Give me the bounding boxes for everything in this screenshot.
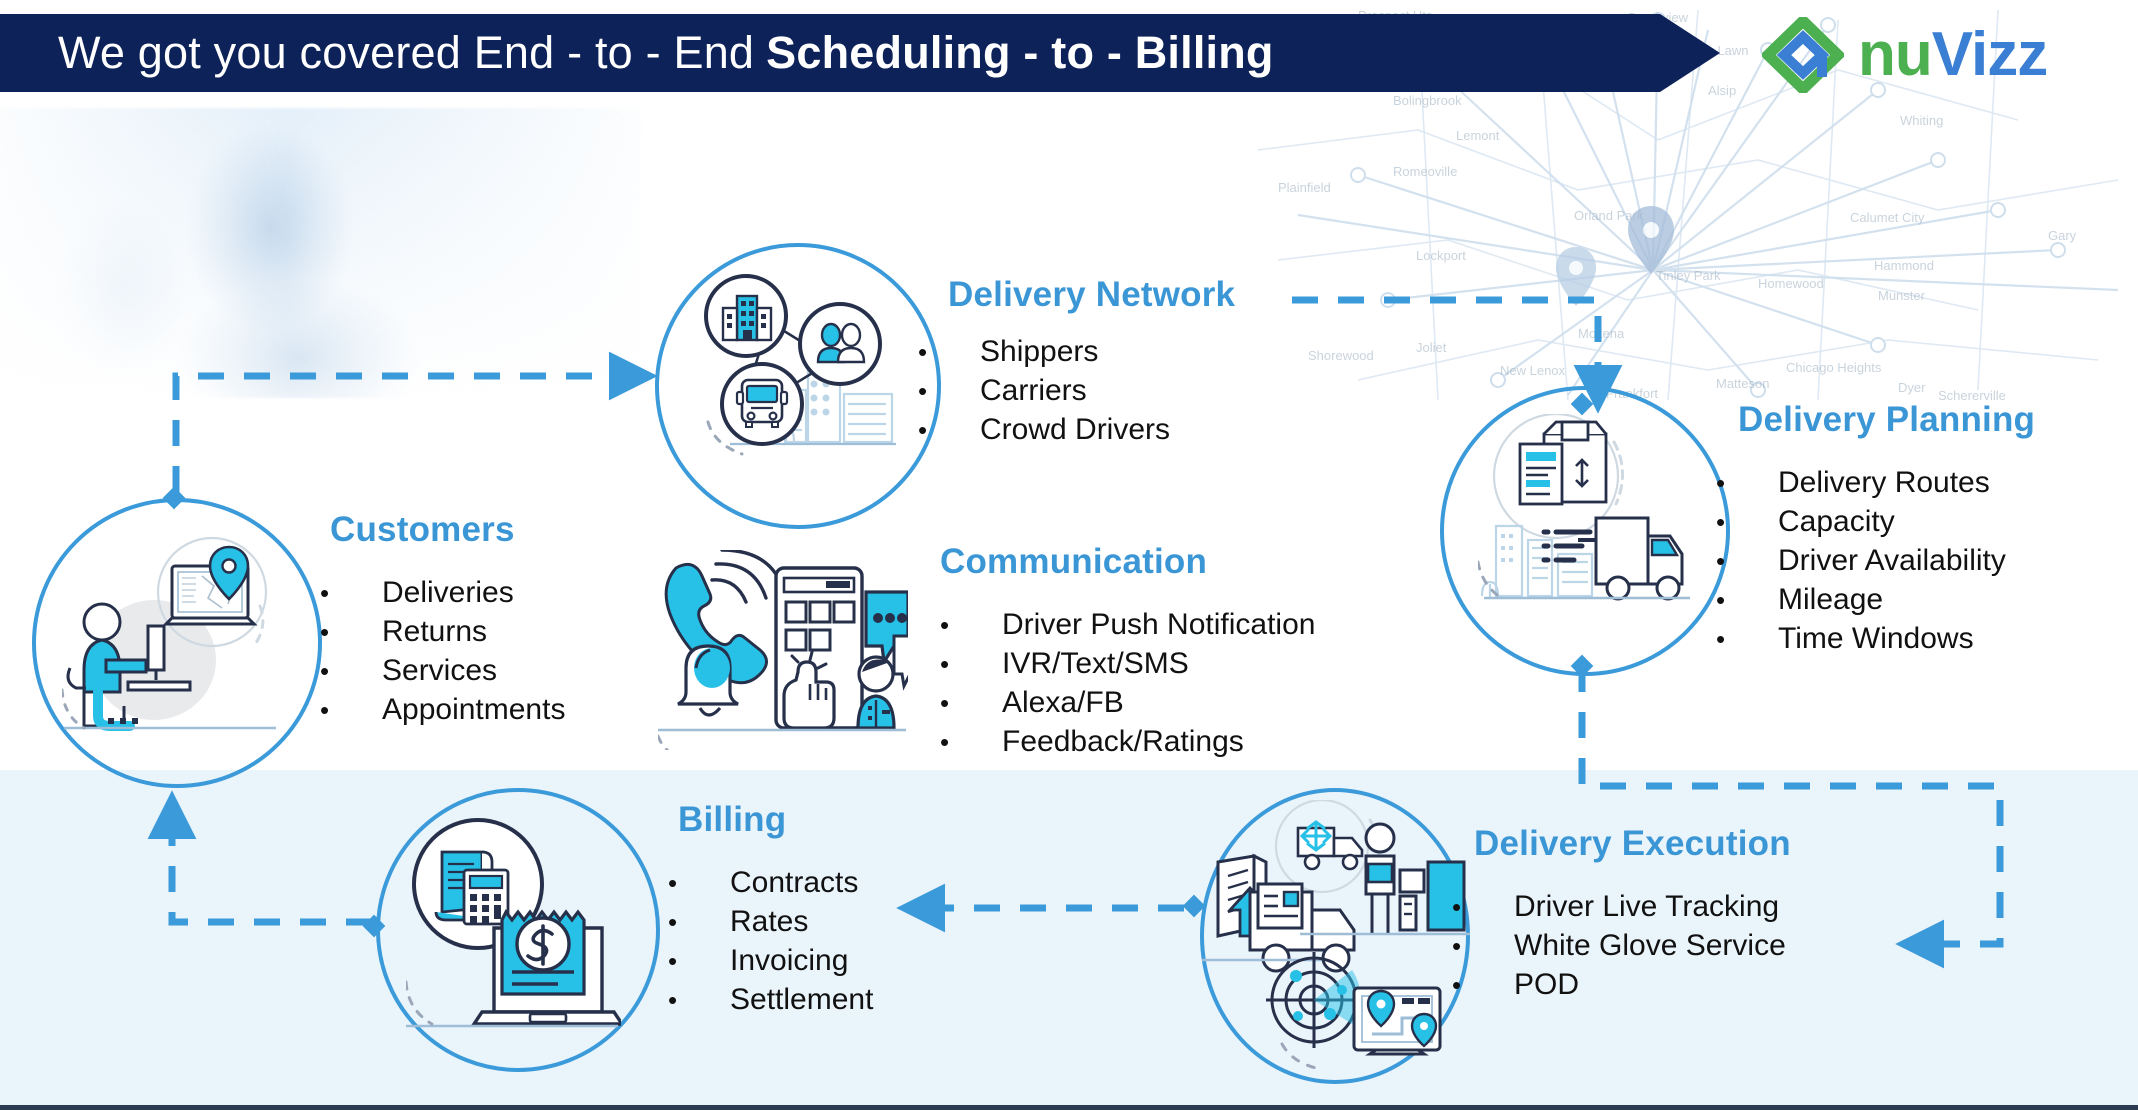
header-banner-arrow-tip: [1660, 14, 1720, 92]
bullet-text: Settlement: [730, 985, 873, 1015]
bullet-text: Rates: [730, 907, 808, 937]
bullet-marker: •: [320, 658, 382, 684]
list-item: •Shippers: [918, 337, 1170, 376]
lower-band-background: [0, 770, 2138, 1108]
bullet-text: Returns: [382, 617, 487, 647]
list-item: •Driver Live Tracking: [1452, 892, 1786, 931]
nuvizz-diamond-logo-mark: [1762, 17, 1844, 93]
svg-text:Dyer: Dyer: [1898, 380, 1926, 395]
svg-text:Mokena: Mokena: [1578, 326, 1625, 341]
svg-text:New Lenox: New Lenox: [1500, 363, 1566, 378]
bullet-marker: •: [1716, 626, 1778, 652]
bullet-text: Contracts: [730, 868, 858, 898]
list-item: •Deliveries: [320, 578, 565, 617]
bullet-text: Time Windows: [1778, 624, 1974, 654]
bullet-marker: •: [320, 619, 382, 645]
nuvizz-logo[interactable]: nuVizz: [1762, 14, 2122, 96]
svg-text:Joliet: Joliet: [1416, 340, 1447, 355]
list-item: •Appointments: [320, 695, 565, 734]
delivery-network-bullets: •Shippers •Carriers •Crowd Drivers: [918, 337, 1170, 454]
bullet-marker: •: [1716, 470, 1778, 496]
bullet-marker: •: [918, 417, 980, 443]
svg-text:Hammond: Hammond: [1874, 258, 1934, 273]
infographic-canvas: Prospect Hts Bolingbrook Lemont Romeovil…: [0, 0, 2138, 1110]
bullet-text: Appointments: [382, 695, 565, 725]
svg-text:Bolingbrook: Bolingbrook: [1393, 93, 1462, 108]
bullet-marker: •: [1716, 548, 1778, 574]
list-item: •POD: [1452, 970, 1786, 1009]
truck-pod-tracking-courier-icon: [1202, 800, 1472, 1070]
list-item: •Driver Push Notification: [940, 610, 1315, 649]
bullet-text: Crowd Drivers: [980, 415, 1170, 445]
bullet-marker: •: [668, 909, 730, 935]
header-banner-text: We got you covered End - to - End Schedu…: [58, 14, 1274, 92]
list-item: •Carriers: [918, 376, 1170, 415]
bullet-marker: •: [1452, 894, 1514, 920]
svg-text:Tinley Park: Tinley Park: [1656, 268, 1721, 283]
bullet-marker: •: [940, 729, 1002, 755]
list-item: •Invoicing: [668, 946, 873, 985]
bullet-text: Alexa/FB: [1002, 688, 1124, 718]
customer-at-desk-laptop-map-icon: [62, 530, 282, 750]
bullet-text: Delivery Routes: [1778, 468, 1990, 498]
bullet-text: Mileage: [1778, 585, 1883, 615]
svg-text:Homewood: Homewood: [1758, 276, 1824, 291]
bullet-text: Invoicing: [730, 946, 848, 976]
list-item: •Feedback/Ratings: [940, 727, 1315, 766]
customers-title: Customers: [330, 510, 515, 550]
list-item: •Crowd Drivers: [918, 415, 1170, 454]
logo-text-nu: nu: [1858, 20, 1932, 89]
bullet-text: Services: [382, 656, 497, 686]
banner-text-normal: We got you covered End - to - End: [58, 27, 754, 79]
list-item: •White Glove Service: [1452, 931, 1786, 970]
communication-title: Communication: [940, 542, 1207, 582]
bullet-marker: •: [918, 339, 980, 365]
bullet-text: POD: [1514, 970, 1579, 1000]
delivery-execution-title: Delivery Execution: [1474, 824, 1791, 864]
bullet-text: Feedback/Ratings: [1002, 727, 1244, 757]
bullet-text: White Glove Service: [1514, 931, 1786, 961]
bullet-marker: •: [940, 651, 1002, 677]
invoice-calculator-laptop-dollar-icon: [406, 818, 621, 1033]
svg-text:Schererville: Schererville: [1938, 388, 2006, 400]
list-item: •Driver Availability: [1716, 546, 2006, 585]
bullet-marker: •: [320, 580, 382, 606]
bullet-marker: •: [1716, 509, 1778, 535]
network-buildings-people-bus-icon: [690, 272, 900, 472]
billing-title: Billing: [678, 800, 786, 840]
communication-bullets: •Driver Push Notification •IVR/Text/SMS …: [940, 610, 1315, 766]
bullet-marker: •: [918, 378, 980, 404]
delivery-planning-bullets: •Delivery Routes •Capacity •Driver Avail…: [1716, 468, 2006, 663]
bullet-marker: •: [668, 870, 730, 896]
list-item: •Settlement: [668, 985, 873, 1024]
logo-text-vizz: Vizz: [1932, 20, 2047, 89]
bullet-marker: •: [1716, 587, 1778, 613]
bullet-text: Shippers: [980, 337, 1098, 367]
svg-text:Romeoville: Romeoville: [1393, 164, 1457, 179]
delivery-network-title: Delivery Network: [948, 275, 1235, 315]
svg-text:Shorewood: Shorewood: [1308, 348, 1374, 363]
delivery-person-holding-boxes-photo: [0, 108, 640, 398]
list-item: •Capacity: [1716, 507, 2006, 546]
bullet-text: Driver Push Notification: [1002, 610, 1315, 640]
svg-text:Gary: Gary: [2048, 228, 2077, 243]
list-item: •IVR/Text/SMS: [940, 649, 1315, 688]
bullet-text: Capacity: [1778, 507, 1895, 537]
delivery-execution-bullets: •Driver Live Tracking •White Glove Servi…: [1452, 892, 1786, 1009]
list-item: •Time Windows: [1716, 624, 2006, 663]
bullet-text: Driver Live Tracking: [1514, 892, 1779, 922]
bullet-marker: •: [1452, 933, 1514, 959]
list-item: •Mileage: [1716, 585, 2006, 624]
svg-text:Lemont: Lemont: [1456, 128, 1500, 143]
bullet-text: Carriers: [980, 376, 1087, 406]
bullet-marker: •: [1452, 972, 1514, 998]
svg-text:Matteson: Matteson: [1716, 376, 1769, 391]
svg-text:Plainfield: Plainfield: [1278, 180, 1331, 195]
bullet-text: Deliveries: [382, 578, 514, 608]
billing-bullets: •Contracts •Rates •Invoicing •Settlement: [668, 868, 873, 1024]
bottom-rule: [0, 1105, 2138, 1110]
nuvizz-logo-wordmark: nuVizz: [1858, 24, 2047, 86]
delivery-planning-title: Delivery Planning: [1738, 400, 2035, 440]
svg-text:Lockport: Lockport: [1416, 248, 1466, 263]
phone-mobile-chat-bell-agent-icon: [658, 550, 908, 750]
list-item: •Delivery Routes: [1716, 468, 2006, 507]
svg-text:Whiting: Whiting: [1900, 113, 1943, 128]
list-item: •Rates: [668, 907, 873, 946]
bullet-marker: •: [940, 690, 1002, 716]
svg-text:Munster: Munster: [1878, 288, 1926, 303]
banner-text-bold: Scheduling - to - Billing: [766, 27, 1273, 79]
bullet-marker: •: [320, 697, 382, 723]
svg-text:Chicago Heights: Chicago Heights: [1786, 360, 1882, 375]
planning-clipboard-truck-icon: [1478, 414, 1693, 629]
bullet-marker: •: [668, 948, 730, 974]
list-item: •Returns: [320, 617, 565, 656]
bullet-text: Driver Availability: [1778, 546, 2006, 576]
bullet-text: IVR/Text/SMS: [1002, 649, 1189, 679]
list-item: •Contracts: [668, 868, 873, 907]
bullet-marker: •: [668, 987, 730, 1013]
bullet-marker: •: [940, 612, 1002, 638]
list-item: •Services: [320, 656, 565, 695]
svg-text:Calumet City: Calumet City: [1850, 210, 1925, 225]
list-item: •Alexa/FB: [940, 688, 1315, 727]
customers-bullets: •Deliveries •Returns •Services •Appointm…: [320, 578, 565, 734]
